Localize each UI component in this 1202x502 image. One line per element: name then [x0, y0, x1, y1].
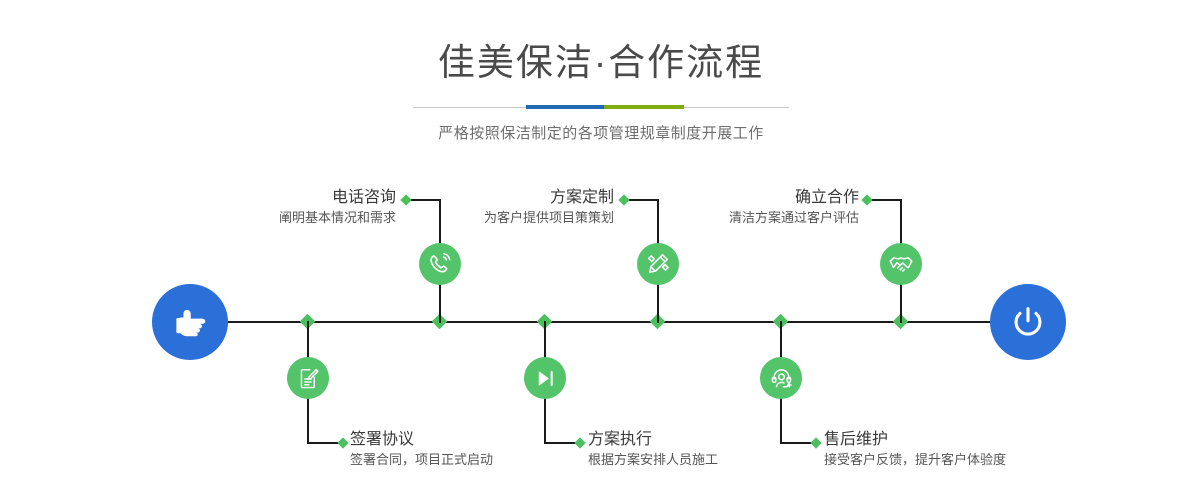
document-pencil-icon — [296, 366, 321, 391]
step-5-label: 售后维护 接受客户反馈，提升客户体验度 — [824, 430, 1144, 469]
phone-call-icon — [427, 251, 453, 277]
step-5-title: 售后维护 — [824, 430, 1144, 450]
divider-segment-green — [604, 105, 684, 109]
step-5-icon-bubble — [760, 357, 802, 399]
pencil-ruler-icon — [645, 251, 671, 277]
play-execute-icon — [533, 366, 558, 391]
step-6-title: 确立合作 — [565, 188, 859, 208]
step-5-desc: 接受客户反馈，提升客户体验度 — [824, 450, 1144, 469]
divider-segment-blue — [526, 105, 604, 109]
power-icon — [1006, 300, 1050, 344]
headset-support-icon — [769, 366, 794, 391]
step-1-icon-bubble — [419, 243, 461, 285]
page-title: 佳美保洁·合作流程 — [0, 44, 1202, 81]
step-6-desc: 清洁方案通过客户评估 — [565, 208, 859, 227]
step-6-label: 确立合作 清洁方案通过客户评估 — [565, 188, 859, 227]
step-6-hline — [868, 199, 902, 201]
step-2-icon-bubble — [287, 357, 329, 399]
step-6-icon-bubble — [880, 243, 922, 285]
step-6-tip — [861, 194, 872, 205]
pointing-hand-icon — [169, 301, 211, 343]
step-4-icon-bubble — [524, 357, 566, 399]
step-2-tip — [337, 437, 348, 448]
timeline-end-node — [990, 284, 1066, 360]
timeline-start-node — [152, 284, 228, 360]
page-subtitle: 严格按照保洁制定的各项管理规章制度开展工作 — [0, 122, 1202, 143]
flow-diagram: 佳美保洁·合作流程 严格按照保洁制定的各项管理规章制度开展工作 — [0, 0, 1202, 502]
step-3-icon-bubble — [637, 243, 679, 285]
header: 佳美保洁·合作流程 严格按照保洁制定的各项管理规章制度开展工作 — [0, 0, 1202, 143]
handshake-icon — [888, 251, 914, 277]
title-divider — [413, 105, 789, 109]
